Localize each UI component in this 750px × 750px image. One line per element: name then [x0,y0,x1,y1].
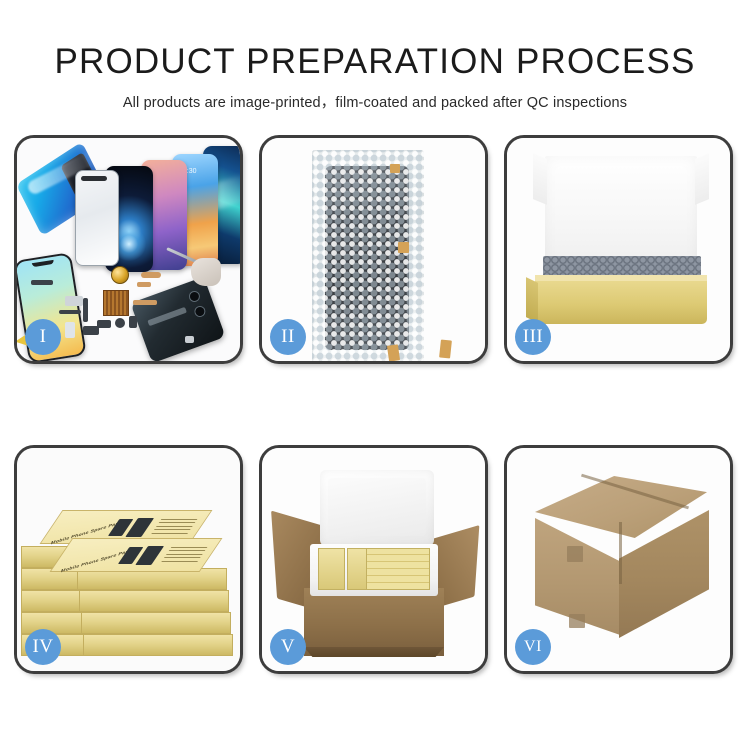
step-badge: V [270,629,306,665]
page-subtitle: All products are image-printed，film-coat… [0,91,750,112]
step-4-boxes-stacked: Mobile Phone Spare Parts Mobile Phone Sp… [14,445,243,674]
step-2-bubble-wrap: II [259,135,488,364]
process-step-grid: 09:30 [14,135,736,680]
step-badge: I [25,319,61,355]
step-6-sealed-carton: VI [504,445,733,674]
step-badge: II [270,319,306,355]
step-5-styrofoam-carton: V [259,445,488,674]
step-badge: III [515,319,551,355]
page-title: PRODUCT PREPARATION PROCESS [0,44,750,79]
product-preparation-infographic: PRODUCT PREPARATION PROCESS All products… [0,0,750,750]
step-badge: IV [25,629,61,665]
step-3-foam-box: III [504,135,733,364]
step-1-components: 09:30 [14,135,243,364]
step-badge: VI [515,629,551,665]
header: PRODUCT PREPARATION PROCESS All products… [0,0,750,112]
